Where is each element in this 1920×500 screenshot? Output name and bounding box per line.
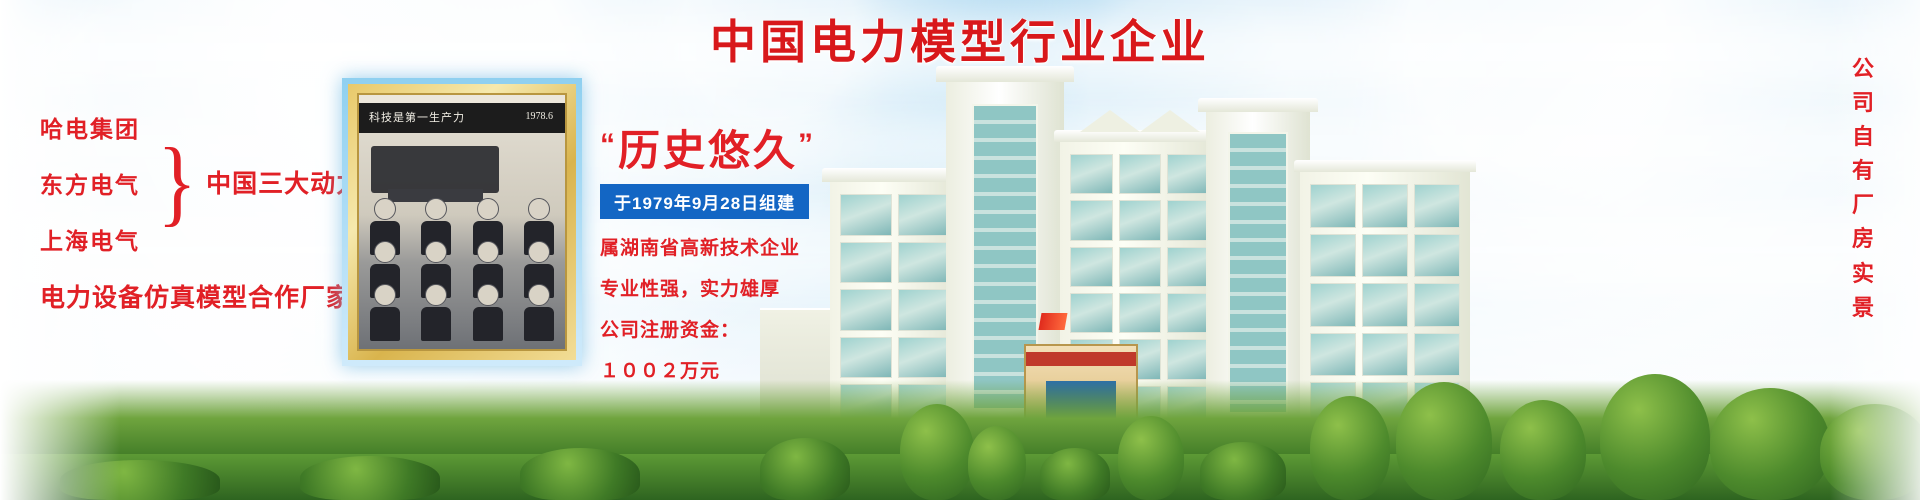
vertical-char: 景 (1844, 291, 1884, 325)
window (1362, 333, 1408, 377)
brace-label: 中国三大动力 (206, 164, 362, 200)
bush (60, 460, 220, 500)
window (1362, 234, 1408, 278)
person (470, 284, 505, 341)
photo-date: 1978.6 (526, 111, 554, 122)
window (1119, 293, 1162, 333)
window (1414, 333, 1460, 377)
bush (1040, 448, 1110, 500)
history-line: 属湖南省高新技术企业 (600, 233, 890, 260)
window (1310, 184, 1356, 228)
quote-open: “ (600, 128, 618, 161)
vertical-char: 房 (1844, 222, 1884, 256)
photo-header-bar: 科技是第一生产力 1978.6 (359, 103, 565, 133)
bush (760, 438, 850, 500)
list-item: 上海电气 (40, 222, 140, 256)
bush (300, 456, 440, 500)
history-line: １００２万元 (600, 356, 890, 383)
window (1167, 339, 1210, 379)
person (367, 284, 402, 341)
tree (968, 426, 1026, 500)
window (1167, 154, 1210, 194)
window (1362, 184, 1408, 228)
person (522, 284, 557, 341)
window (1070, 293, 1113, 333)
window (898, 337, 950, 379)
brace-symbol: } (157, 144, 196, 221)
window (1167, 247, 1210, 287)
window (1310, 333, 1356, 377)
window (1119, 200, 1162, 240)
photo-caption: 科技是第一生产力 (369, 109, 465, 125)
founded-badge: 于1979年9月28日组建 (600, 184, 809, 219)
window (898, 242, 950, 284)
entrance-sign (1026, 352, 1136, 366)
window (1310, 283, 1356, 327)
bush (520, 448, 640, 500)
tree (1600, 374, 1710, 500)
window (1070, 247, 1113, 287)
quote-close: ” (798, 128, 816, 161)
flag (1039, 313, 1068, 330)
history-line: 公司注册资金： (600, 315, 890, 342)
tree (1500, 400, 1586, 500)
window (1167, 293, 1210, 333)
photo-furniture (371, 146, 499, 194)
list-item: 哈电集团 (40, 110, 140, 144)
window (1119, 154, 1162, 194)
history-heading-text: 历史悠久 (618, 127, 798, 174)
tree (900, 404, 974, 500)
vertical-char: 自 (1844, 120, 1884, 154)
person (419, 284, 454, 341)
window (1167, 200, 1210, 240)
vertical-char: 厂 (1844, 188, 1884, 222)
photo-image: 科技是第一生产力 1978.6 (357, 93, 567, 351)
history-block: “历史悠久” 于1979年9月28日组建 属湖南省高新技术企业 专业性强，实力雄… (600, 130, 890, 383)
vertical-char: 实 (1844, 257, 1884, 291)
window (898, 289, 950, 331)
stairwell-glass (1228, 132, 1288, 414)
tree (1396, 382, 1492, 500)
tree (1118, 416, 1184, 500)
vertical-char: 有 (1844, 154, 1884, 188)
photo-gold-border: 科技是第一生产力 1978.6 (348, 84, 576, 360)
window (1119, 247, 1162, 287)
window (1310, 234, 1356, 278)
partners-list: 哈电集团 东方电气 上海电气 (40, 108, 140, 256)
window (1414, 184, 1460, 228)
window (1414, 234, 1460, 278)
tree (1710, 388, 1830, 500)
tree (1820, 404, 1920, 500)
roof-peak (1080, 110, 1140, 132)
bush (1200, 442, 1286, 500)
roof-peak (1140, 110, 1200, 132)
history-heading: “历史悠久” (600, 130, 890, 172)
vertical-char: 公 (1844, 52, 1884, 86)
window (1414, 283, 1460, 327)
window (1070, 154, 1113, 194)
window (1070, 200, 1113, 240)
list-item: 东方电气 (40, 166, 140, 200)
promo-banner: 中国电力模型行业企业 哈电集团 东方电气 上海电气 } 中国三大动力 电力设备仿… (0, 0, 1920, 500)
photo-body (359, 133, 565, 349)
historical-photo-frame: 科技是第一生产力 1978.6 (342, 78, 582, 366)
window (898, 194, 950, 236)
history-line: 专业性强，实力雄厚 (600, 274, 890, 301)
roof (1198, 98, 1318, 112)
factory-vertical-caption: 公 司 自 有 厂 房 实 景 (1844, 52, 1884, 325)
vertical-char: 司 (1844, 86, 1884, 120)
tree (1310, 396, 1390, 500)
page-title: 中国电力模型行业企业 (0, 6, 1920, 72)
window (1362, 283, 1408, 327)
photo-people-row (359, 284, 565, 341)
